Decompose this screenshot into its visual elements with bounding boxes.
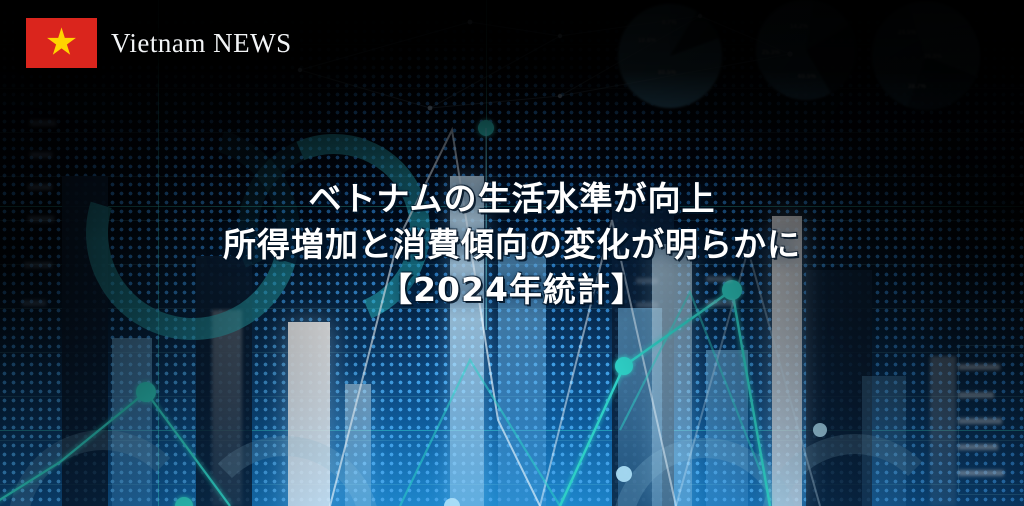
brand-logo[interactable]: Vietnam NEWS <box>26 18 292 68</box>
star-icon <box>47 27 77 57</box>
page-title: ベトナムの生活水準が向上 所得増加と消費傾向の変化が明らかに 【2024年統計】 <box>0 176 1024 313</box>
page-title-line-2: 所得増加と消費傾向の変化が明らかに <box>0 222 1024 268</box>
page-title-line-3: 【2024年統計】 <box>0 267 1024 313</box>
page-title-line-1: ベトナムの生活水準が向上 <box>0 176 1024 222</box>
brand-name: Vietnam NEWS <box>111 28 292 59</box>
news-thumbnail: 8.7% 10.8% 80.5% 14.2% 25.3% 60.5% 24.5%… <box>0 0 1024 506</box>
vietnam-flag-icon <box>26 18 97 68</box>
